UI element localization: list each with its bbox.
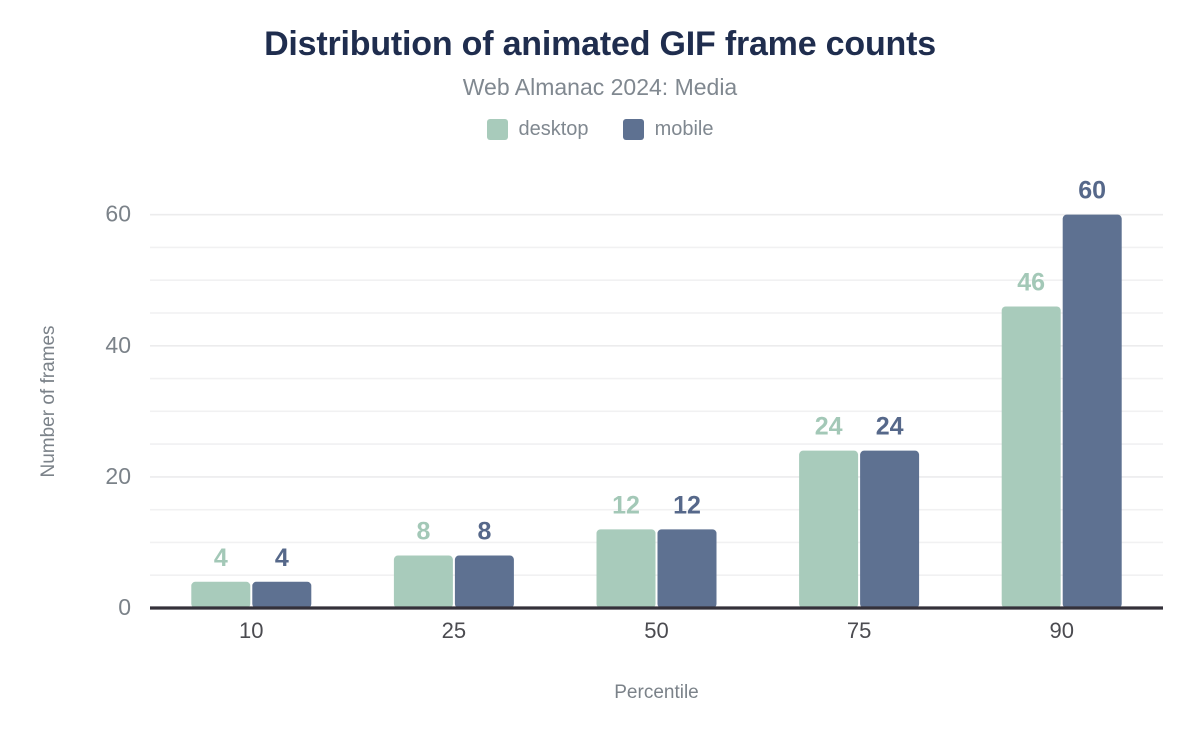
bar-mobile-90[interactable] — [1063, 215, 1122, 608]
bar-desktop-50[interactable] — [597, 529, 656, 608]
legend-swatch-desktop-icon — [487, 119, 508, 140]
bar-value-label-desktop-25: 8 — [416, 518, 430, 546]
bar-value-label-mobile-50: 12 — [673, 491, 701, 519]
bar-mobile-10[interactable] — [252, 582, 311, 608]
legend-label-mobile: mobile — [655, 118, 714, 141]
chart-subtitle: Web Almanac 2024: Media — [0, 75, 1200, 100]
bar-desktop-75[interactable] — [799, 451, 858, 608]
chart-legend: desktop mobile — [0, 118, 1200, 141]
y-axis-tick-40: 40 — [105, 332, 131, 358]
x-axis-tick-25: 25 — [442, 618, 466, 643]
bar-value-label-desktop-90: 46 — [1017, 268, 1045, 296]
x-axis-tick-10: 10 — [239, 618, 263, 643]
y-axis-title: Number of frames — [38, 325, 59, 477]
x-axis-tick-90: 90 — [1049, 618, 1073, 643]
chart-header: Distribution of animated GIF frame count… — [0, 0, 1200, 141]
bars-group — [191, 215, 1121, 608]
x-axis-tick-50: 50 — [644, 618, 668, 643]
y-axis-tick-20: 20 — [105, 463, 131, 489]
page-title: Distribution of animated GIF frame count… — [0, 26, 1200, 63]
axis-titles-group: PercentileNumber of frames — [38, 325, 699, 703]
legend-swatch-mobile-icon — [623, 119, 644, 140]
bar-value-label-mobile-25: 8 — [477, 518, 491, 546]
bar-mobile-25[interactable] — [455, 556, 514, 608]
bar-desktop-90[interactable] — [1002, 306, 1061, 608]
y-axis-tick-60: 60 — [105, 201, 131, 227]
bar-value-label-mobile-90: 60 — [1078, 177, 1106, 205]
bar-value-label-mobile-10: 4 — [275, 544, 289, 572]
bar-value-label-mobile-75: 24 — [876, 413, 904, 441]
bar-value-label-desktop-50: 12 — [612, 491, 640, 519]
legend-item-desktop[interactable]: desktop — [487, 118, 589, 141]
bar-value-label-desktop-75: 24 — [815, 413, 843, 441]
x-axis-tick-75: 75 — [847, 618, 871, 643]
bar-mobile-50[interactable] — [658, 529, 717, 608]
bar-desktop-25[interactable] — [394, 556, 453, 608]
x-axis-title: Percentile — [614, 682, 699, 703]
bar-desktop-10[interactable] — [191, 582, 250, 608]
legend-label-desktop: desktop — [519, 118, 589, 141]
bar-mobile-75[interactable] — [860, 451, 919, 608]
x-axis-tick-labels-group: 1025507590 — [239, 618, 1074, 643]
y-axis-tick-0: 0 — [118, 594, 131, 620]
y-axis-tick-labels-group: 0204060 — [105, 201, 131, 620]
legend-item-mobile[interactable]: mobile — [623, 118, 714, 141]
bar-value-labels-group: 4488121224244660 — [214, 177, 1106, 572]
bar-value-label-desktop-10: 4 — [214, 544, 228, 572]
